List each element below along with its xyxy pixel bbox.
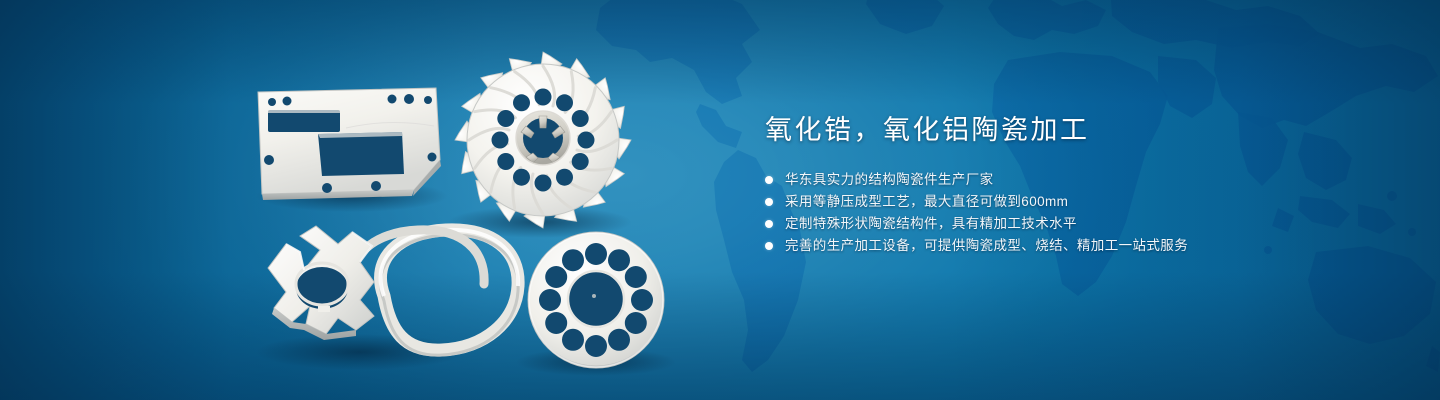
bullet-dot-icon <box>765 220 773 228</box>
list-item: 华东具实力的结构陶瓷件生产厂家 <box>765 169 1385 191</box>
list-item: 定制特殊形状陶瓷结构件，具有精加工技术水平 <box>765 213 1385 235</box>
feature-text: 定制特殊形状陶瓷结构件，具有精加工技术水平 <box>785 213 1077 235</box>
ceramic-perforated-disc <box>528 232 664 368</box>
bullet-dot-icon <box>765 176 773 184</box>
feature-text: 华东具实力的结构陶瓷件生产厂家 <box>785 169 994 191</box>
list-item: 采用等静压成型工艺，最大直径可做到600mm <box>765 191 1385 213</box>
feature-text: 采用等静压成型工艺，最大直径可做到600mm <box>785 191 1068 213</box>
page-title: 氧化锆，氧化铝陶瓷加工 <box>765 112 1385 148</box>
ceramic-impeller-wheel <box>454 51 631 228</box>
bullet-dot-icon <box>765 198 773 206</box>
ceramic-machined-plate <box>258 88 441 200</box>
feature-list: 华东具实力的结构陶瓷件生产厂家 采用等静压成型工艺，最大直径可做到600mm 定… <box>765 169 1385 257</box>
feature-text: 完善的生产加工设备，可提供陶瓷成型、烧结、精加工一站式服务 <box>785 235 1188 257</box>
list-item: 完善的生产加工设备，可提供陶瓷成型、烧结、精加工一站式服务 <box>765 235 1385 257</box>
bullet-dot-icon <box>765 242 773 250</box>
ceramic-cross-plate <box>268 226 374 340</box>
ceramic-products-image <box>0 0 740 400</box>
banner-copy: 氧化锆，氧化铝陶瓷加工 华东具实力的结构陶瓷件生产厂家 采用等静压成型工艺，最大… <box>765 112 1385 257</box>
promo-banner: 氧化锆，氧化铝陶瓷加工 华东具实力的结构陶瓷件生产厂家 采用等静压成型工艺，最大… <box>0 0 1440 400</box>
